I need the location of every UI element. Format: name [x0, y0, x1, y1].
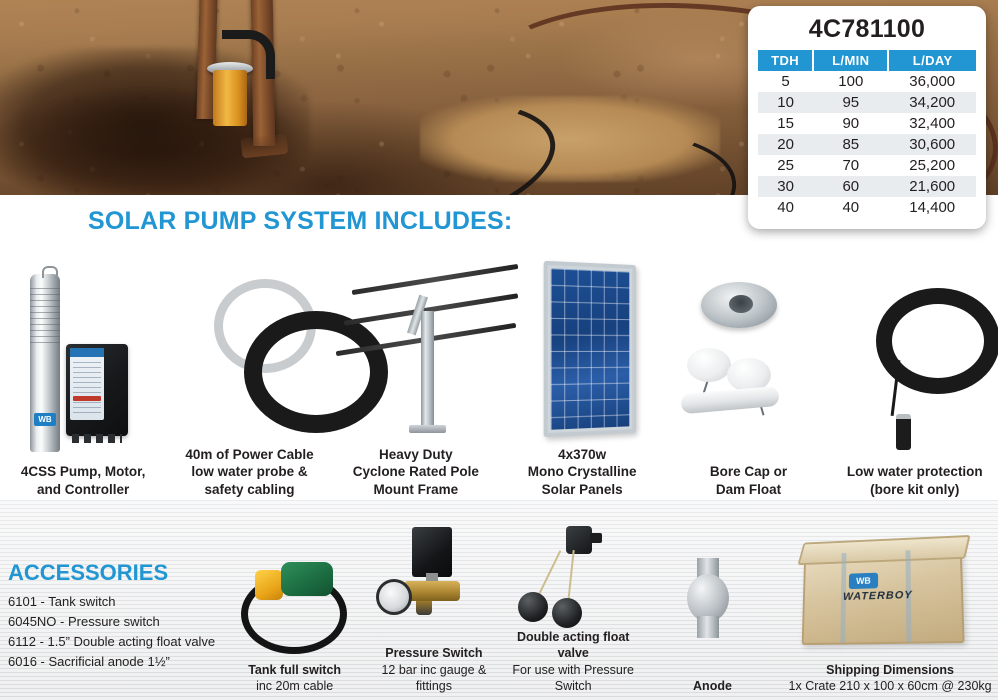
accessories-section: ACCESSORIES 6101 - Tank switch 6045NO - …	[0, 500, 998, 700]
accessory-title: Double acting float valve	[507, 629, 640, 662]
valve-head	[566, 526, 592, 554]
accessory-caption: Pressure Switch 12 bar inc gauge &fittin…	[378, 641, 489, 700]
switch-housing	[412, 527, 452, 577]
cell-tdh: 40	[758, 197, 813, 218]
float-ball	[552, 598, 582, 628]
accessory-anode: Anode	[643, 518, 782, 700]
model-number: 4C781100	[758, 15, 976, 44]
includes-item-frame: Heavy DutyCyclone Rated PoleMount Frame	[333, 243, 499, 498]
pump-and-controller-icon: WB	[0, 272, 166, 457]
accessory-title: Shipping Dimensions	[789, 662, 992, 678]
controller-label	[70, 348, 104, 420]
table-row: 30 60 21,600	[758, 176, 976, 197]
frame-rail	[351, 264, 518, 295]
accessory-subtitle: inc 20m cable	[248, 678, 341, 694]
controller-danger-strip	[73, 396, 101, 401]
controller-cable-glands	[72, 434, 122, 443]
accessory-part-line: 6045NO - Pressure switch	[8, 612, 215, 632]
cell-tdh: 30	[758, 176, 813, 197]
table-row: 15 90 32,400	[758, 113, 976, 134]
cell-lmin: 100	[813, 71, 888, 92]
dam-float-ball	[687, 348, 731, 382]
accessory-title: Anode	[693, 678, 732, 694]
includes-caption: 40m of Power Cablelow water probe &safet…	[181, 440, 317, 498]
accessory-part-line: 6112 - 1.5” Double acting float valve	[8, 632, 215, 652]
crate-body: WB WATERBOY	[802, 546, 965, 645]
float-arm	[567, 550, 574, 602]
bore-cap-icon	[701, 282, 777, 328]
pole-mount-frame-icon	[333, 255, 499, 440]
pump-ribs	[30, 288, 60, 348]
probe-cable-coil	[876, 288, 998, 394]
cell-tdh: 15	[758, 113, 813, 134]
table-row: 40 40 14,400	[758, 197, 976, 218]
table-header-row: TDH L/MIN L/DAY	[758, 50, 976, 71]
solar-panel-icon	[499, 255, 665, 440]
accessories-item-row: Tank full switch inc 20m cable Pressure …	[225, 518, 998, 700]
cell-tdh: 5	[758, 71, 813, 92]
column-header-tdh: TDH	[758, 50, 813, 71]
switch-body	[281, 562, 333, 596]
double-acting-float-valve-icon	[504, 518, 643, 625]
cell-lday: 36,000	[888, 71, 976, 92]
accessory-subtitle: For use with PressureSwitch	[507, 662, 640, 695]
brass-drop-fitting	[416, 601, 432, 615]
cell-lday: 25,200	[888, 155, 976, 176]
includes-caption: Bore Cap orDam Float	[706, 457, 791, 498]
table-row: 20 85 30,600	[758, 134, 976, 155]
cell-lmin: 95	[813, 92, 888, 113]
specification-card: 4C781100 TDH L/MIN L/DAY 5 100 36,000 10…	[748, 6, 986, 229]
pump-bail	[42, 266, 58, 278]
pressure-gauge-icon	[376, 579, 412, 615]
pressure-switch-icon	[364, 523, 503, 641]
accessory-float-valve: Double acting float valve For use with P…	[504, 518, 643, 700]
includes-item-panels: 4x370wMono CrystallineSolar Panels	[499, 243, 665, 498]
float-ball	[518, 592, 548, 622]
cell-lmin: 40	[813, 197, 888, 218]
bore-cap-and-float-icon	[665, 272, 831, 457]
brand-name: WATERBOY	[843, 589, 913, 603]
sacrificial-anode-icon	[643, 556, 782, 674]
includes-caption: Heavy DutyCyclone Rated PoleMount Frame	[349, 440, 483, 498]
switch-weight	[255, 570, 283, 600]
accessory-subtitle: 12 bar inc gauge &fittings	[381, 662, 486, 695]
accessories-heading: ACCESSORIES	[8, 560, 168, 586]
anode-body	[687, 574, 729, 622]
includes-heading: SOLAR PUMP SYSTEM INCLUDES:	[88, 207, 512, 236]
accessory-title: Pressure Switch	[381, 645, 486, 661]
includes-item-borecap: Bore Cap orDam Float	[665, 243, 831, 498]
low-water-probe-icon	[832, 272, 998, 457]
cell-lmin: 60	[813, 176, 888, 197]
table-row: 10 95 34,200	[758, 92, 976, 113]
submersible-pump-icon: WB	[30, 274, 60, 452]
table-row: 5 100 36,000	[758, 71, 976, 92]
accessory-part-line: 6016 - Sacrificial anode 1½”	[8, 652, 215, 672]
brand-mark: WB	[34, 413, 56, 426]
accessory-shipping: WB WATERBOY Shipping Dimensions 1x Crate…	[782, 518, 998, 700]
includes-caption: 4x370wMono CrystallineSolar Panels	[524, 440, 641, 498]
tank-float-switch-icon	[225, 540, 364, 658]
column-header-lday: L/DAY	[888, 50, 976, 71]
includes-item-cable: 40m of Power Cablelow water probe &safet…	[166, 243, 332, 498]
accessory-tank-switch: Tank full switch inc 20m cable	[225, 518, 364, 700]
includes-caption: Low water protection(bore kit only)	[843, 457, 987, 498]
accessory-part-line: 6101 - Tank switch	[8, 592, 215, 612]
solar-panel-frame	[544, 261, 636, 437]
accessory-title: Tank full switch	[248, 662, 341, 678]
cell-lday: 34,200	[888, 92, 976, 113]
probe-sensor	[896, 414, 911, 450]
cell-lmin: 90	[813, 113, 888, 134]
accessory-caption: Anode	[690, 674, 735, 700]
includes-caption: 4CSS Pump, Motor,and Controller	[17, 457, 150, 498]
bore-casing	[213, 70, 247, 126]
cell-lday: 14,400	[888, 197, 976, 218]
crate-lid	[798, 534, 971, 564]
accessory-subtitle: 1x Crate 210 x 100 x 60cm @ 230kg	[789, 678, 992, 694]
accessory-caption: Double acting float valve For use with P…	[504, 625, 643, 700]
anode-thread-bottom	[697, 616, 719, 638]
accessory-caption: Tank full switch inc 20m cable	[245, 658, 344, 700]
includes-item-pump: WB 4CSS Pump, Motor,and Controller	[0, 243, 166, 498]
cell-lday: 30,600	[888, 134, 976, 155]
accessory-caption: Shipping Dimensions 1x Crate 210 x 100 x…	[786, 658, 995, 700]
controller-box-icon	[66, 344, 128, 436]
brass-fitting	[404, 581, 460, 601]
cell-tdh: 25	[758, 155, 813, 176]
cell-lmin: 85	[813, 134, 888, 155]
includes-item-row: WB 4CSS Pump, Motor,and Controller 40m o…	[0, 243, 998, 498]
float-arm	[536, 550, 561, 598]
includes-item-lowwater: Low water protection(bore kit only)	[832, 243, 998, 498]
includes-section: SOLAR PUMP SYSTEM INCLUDES: WB 4CSS Pum	[0, 195, 998, 500]
accessories-part-list: 6101 - Tank switch 6045NO - Pressure swi…	[8, 592, 215, 673]
cell-lday: 21,600	[888, 176, 976, 197]
frame-pole	[421, 311, 434, 429]
cell-tdh: 10	[758, 92, 813, 113]
shipping-crate-icon: WB WATERBOY	[782, 540, 998, 658]
dam-float-tube	[681, 386, 780, 414]
column-header-lmin: L/MIN	[813, 50, 888, 71]
cell-lmin: 70	[813, 155, 888, 176]
frame-base-plate	[409, 425, 446, 433]
accessory-pressure-switch: Pressure Switch 12 bar inc gauge &fittin…	[364, 518, 503, 700]
power-cable-icon	[166, 255, 332, 440]
table-row: 25 70 25,200	[758, 155, 976, 176]
solar-cell-grid	[551, 268, 630, 430]
product-info-sheet: 4C781100 TDH L/MIN L/DAY 5 100 36,000 10…	[0, 0, 998, 700]
cell-lday: 32,400	[888, 113, 976, 134]
performance-table: TDH L/MIN L/DAY 5 100 36,000 10 95 34,20…	[758, 50, 976, 218]
brand-mark: WB	[849, 572, 878, 588]
cell-tdh: 20	[758, 134, 813, 155]
